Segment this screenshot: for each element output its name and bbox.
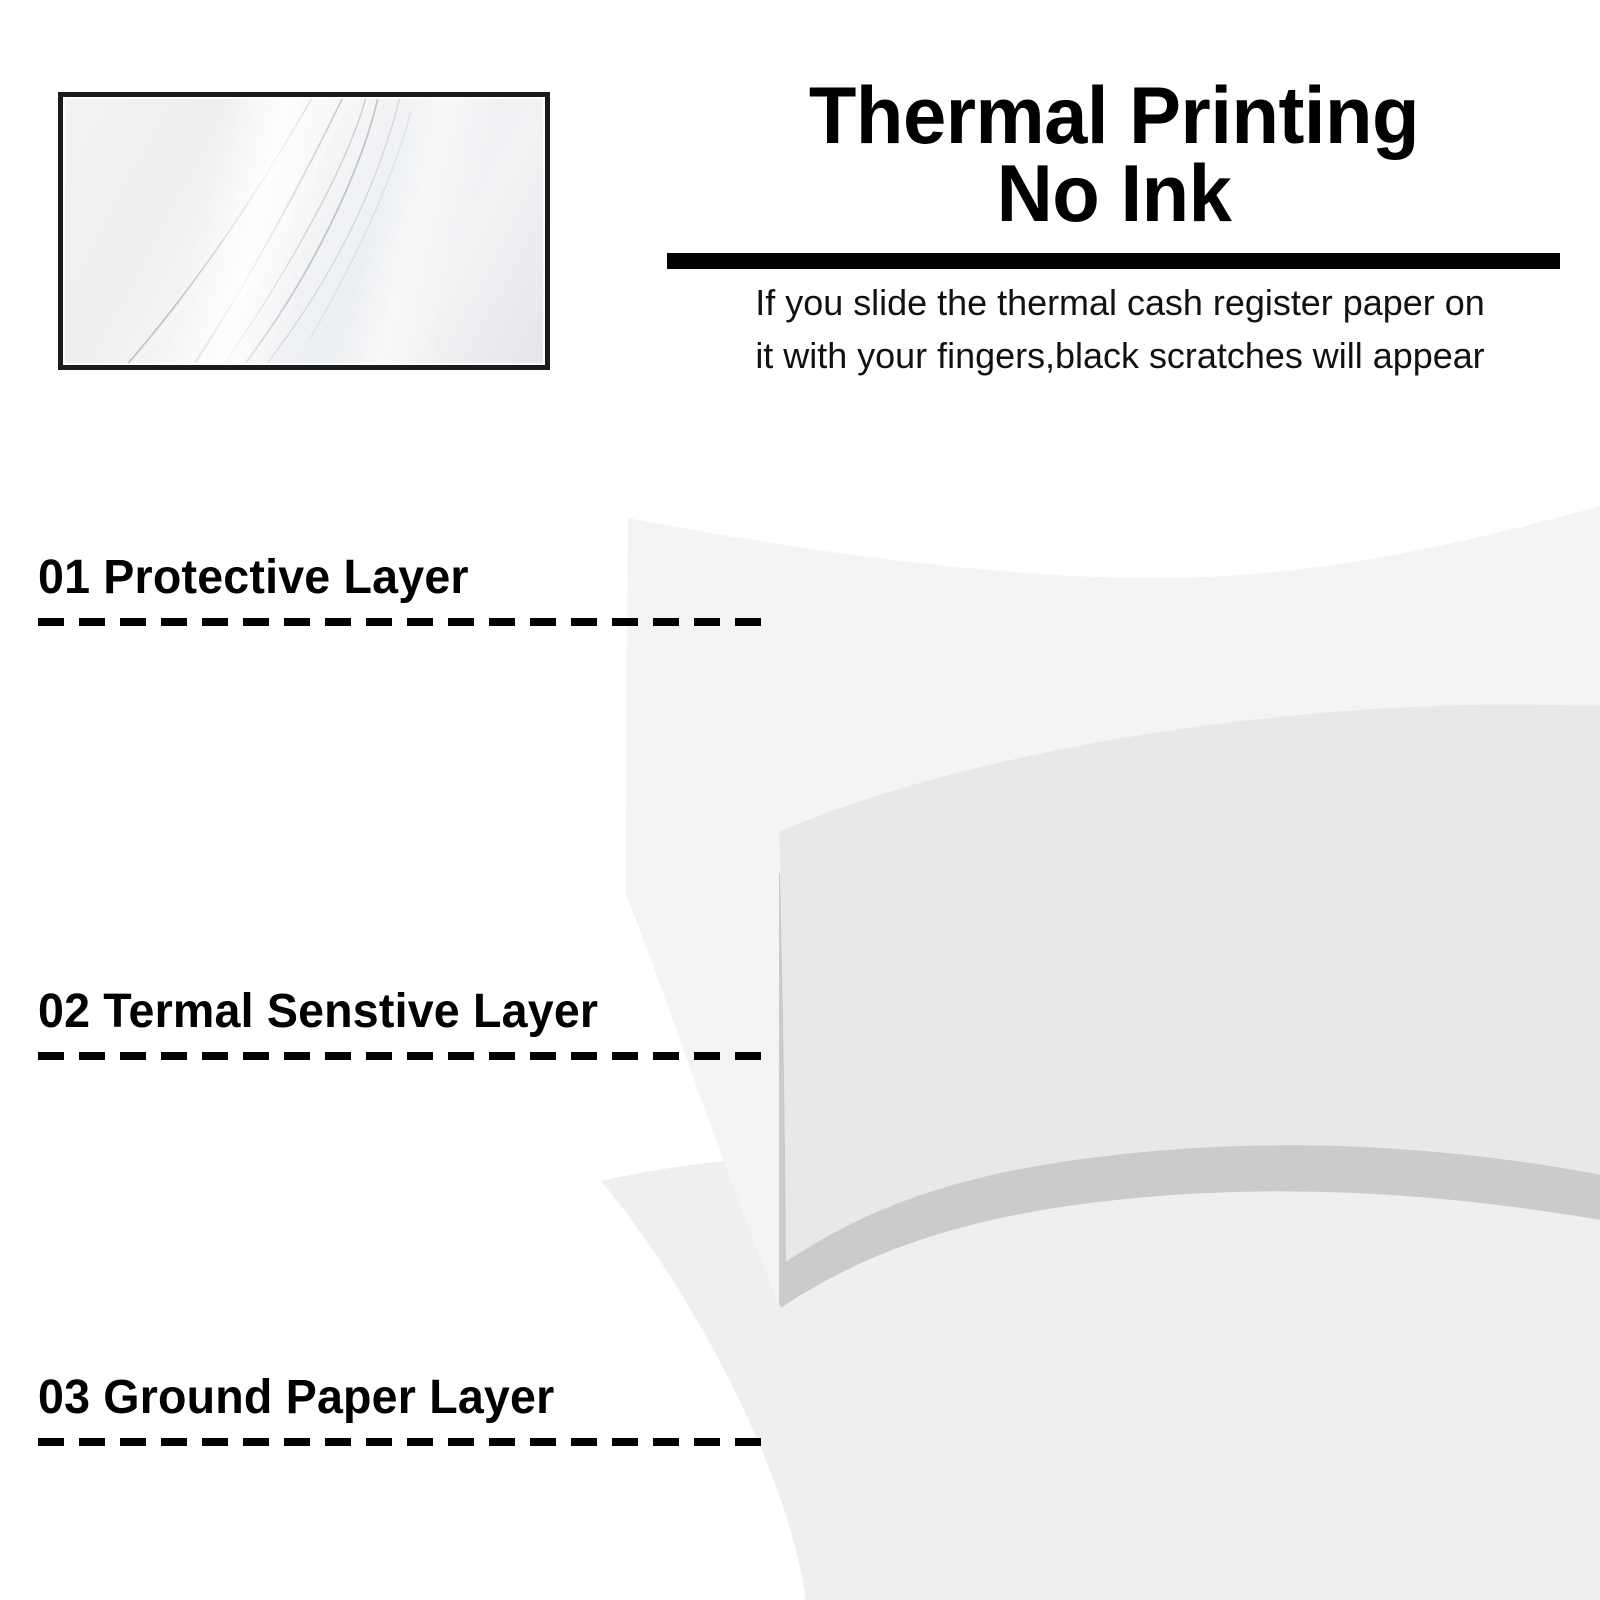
layer-callout-label-03: 03 Ground Paper Layer bbox=[38, 1374, 756, 1422]
paper-glare-overlay bbox=[63, 97, 545, 365]
layer-callout-ground: 03 Ground Paper Layer bbox=[38, 1374, 778, 1446]
page-title: Thermal Printing No Ink bbox=[678, 78, 1550, 234]
ground-paper-layer-shape bbox=[601, 1140, 1600, 1600]
header-title-block: Thermal Printing No Ink bbox=[660, 78, 1568, 234]
product-photo-thumbnail bbox=[58, 92, 550, 370]
protective-layer-shade-shape bbox=[779, 704, 1600, 1262]
layer-callout-dashed-line-03 bbox=[38, 1438, 775, 1446]
layer-callout-label-02: 02 Termal Senstive Layer bbox=[38, 988, 756, 1036]
header-subtitle: If you slide the thermal cash register p… bbox=[667, 276, 1573, 383]
layer-callout-protective: 01 Protective Layer bbox=[38, 554, 778, 626]
thermal-sensitive-layer-shape bbox=[626, 852, 1600, 1308]
title-divider-rule bbox=[667, 253, 1560, 269]
layer-callout-dashed-line-02 bbox=[38, 1052, 775, 1060]
layer-callout-thermal: 02 Termal Senstive Layer bbox=[38, 988, 778, 1060]
layer-callout-label-01: 01 Protective Layer bbox=[38, 554, 756, 602]
layer-callout-dashed-line-01 bbox=[38, 618, 775, 626]
